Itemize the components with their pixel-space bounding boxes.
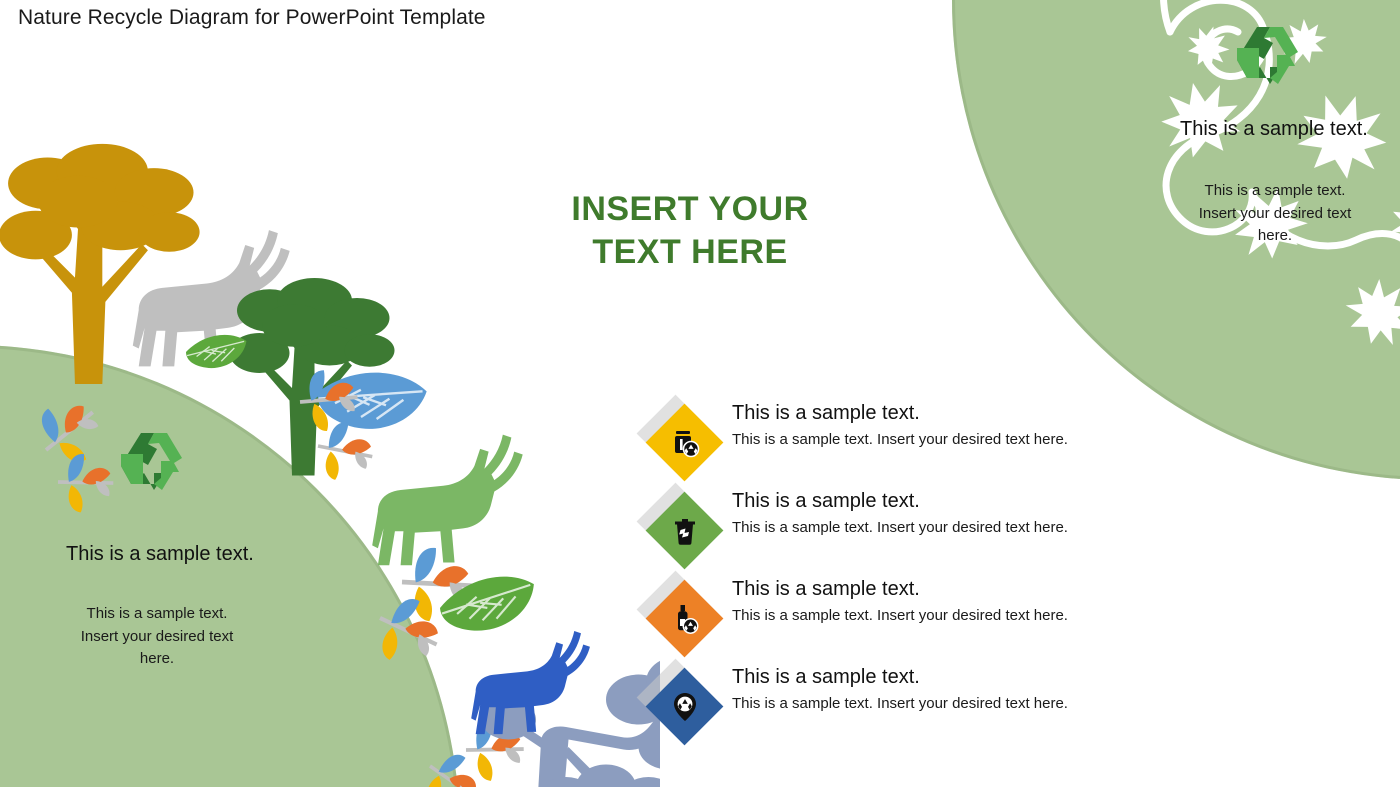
center-headline-line1: INSERT YOUR: [560, 188, 820, 231]
panel-top-right-heading: This is a sample text.: [1180, 118, 1368, 141]
bullet-body: This is a sample text. Insert your desir…: [732, 606, 1162, 626]
bullet-text-1: This is a sample text. This is a sample …: [732, 400, 1162, 450]
bullet-text-3: This is a sample text. This is a sample …: [732, 576, 1162, 626]
bullet-text-2: This is a sample text. This is a sample …: [732, 488, 1162, 538]
bullet-body: This is a sample text. Insert your desir…: [732, 694, 1162, 714]
trash-bin-icon: [657, 503, 712, 558]
list-item[interactable]: This is a sample text. This is a sample …: [646, 488, 1166, 576]
list-item[interactable]: This is a sample text. This is a sample …: [646, 400, 1166, 488]
bullet-text-4: This is a sample text. This is a sample …: [732, 664, 1162, 714]
list-item[interactable]: This is a sample text. This is a sample …: [646, 576, 1166, 664]
bullet-heading: This is a sample text.: [732, 400, 1162, 427]
bullet-icon-4[interactable]: [646, 670, 724, 748]
bullet-body: This is a sample text. Insert your desir…: [732, 518, 1162, 538]
recycle-icon: [1234, 22, 1306, 88]
bullet-heading: This is a sample text.: [732, 488, 1162, 515]
bullet-icon-1[interactable]: [646, 406, 724, 484]
panel-top-right-body: This is a sample text. Insert your desir…: [1196, 180, 1354, 248]
recycle-location-pin-icon: [657, 679, 712, 734]
bullet-icon-3[interactable]: [646, 582, 724, 660]
list-item[interactable]: This is a sample text. This is a sample …: [646, 664, 1166, 752]
center-headline-line2: TEXT HERE: [560, 231, 820, 274]
page-title: Nature Recycle Diagram for PowerPoint Te…: [18, 6, 486, 30]
bullet-heading: This is a sample text.: [732, 576, 1162, 603]
bullet-body: This is a sample text. Insert your desir…: [732, 430, 1162, 450]
bullet-list: This is a sample text. This is a sample …: [646, 400, 1166, 752]
slide-canvas: Nature Recycle Diagram for PowerPoint Te…: [0, 0, 1400, 787]
recycle-jar-icon: [657, 415, 712, 470]
bullet-heading: This is a sample text.: [732, 664, 1162, 691]
center-headline: INSERT YOUR TEXT HERE: [560, 188, 820, 273]
bullet-icon-2[interactable]: [646, 494, 724, 572]
recycle-bottle-icon: [657, 591, 712, 646]
